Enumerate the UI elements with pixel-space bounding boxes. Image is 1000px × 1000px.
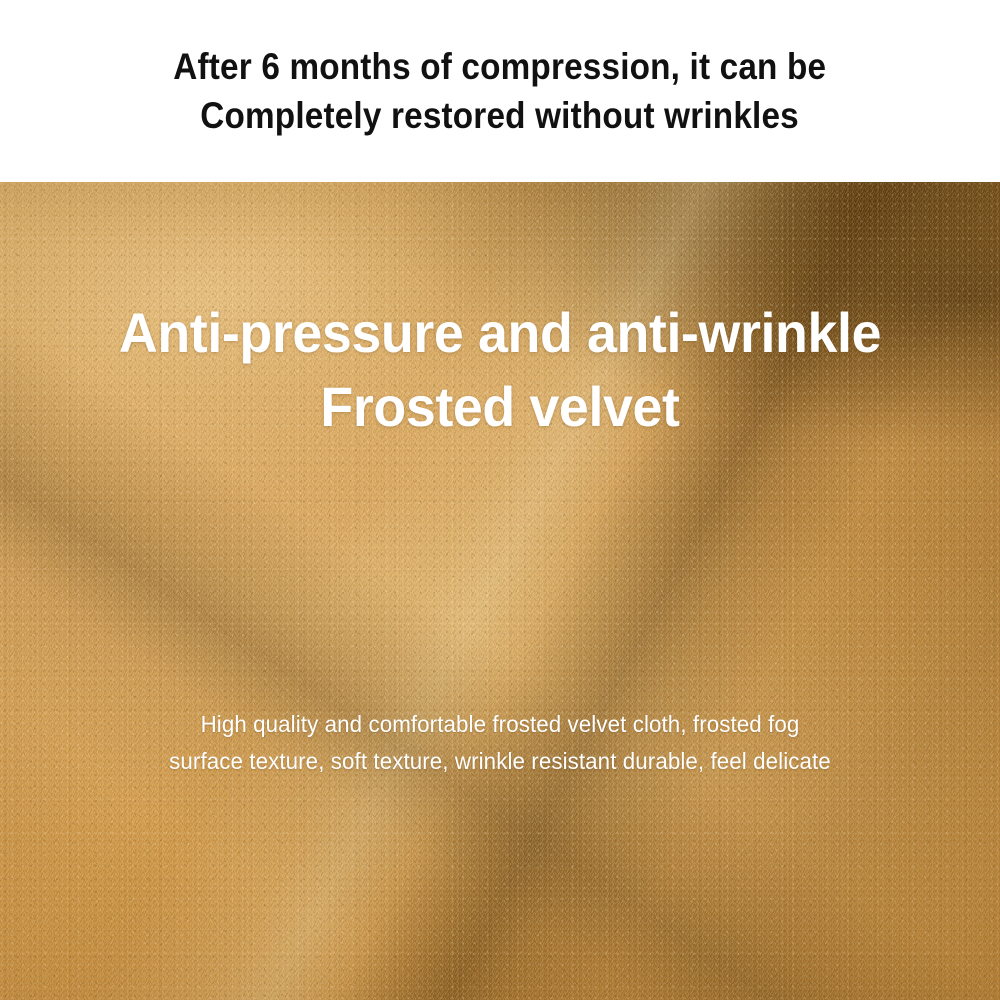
fabric-top-edge-shadow (0, 182, 1000, 1000)
product-feature-banner: After 6 months of compression, it can be… (0, 0, 1000, 1000)
fabric-vignette (0, 182, 1000, 1000)
fabric-lower-right-fold (0, 182, 1000, 1000)
fabric-top-right-shadow (0, 182, 1000, 1000)
fabric-nap-texture-b (0, 182, 1000, 1000)
fabric-top-right-shadow-2 (0, 182, 1000, 1000)
fabric-diagonal-fold-ridge (0, 182, 1000, 1000)
fabric-photo (0, 182, 1000, 1000)
fabric-base-tone (0, 182, 1000, 1000)
fabric-nap-texture-a (0, 182, 1000, 1000)
fabric-nap-speckle (0, 182, 1000, 1000)
fabric-diagonal-fold-crease (0, 182, 1000, 1000)
fabric-upper-sheen (0, 182, 1000, 1000)
header-line-1: After 6 months of compression, it can be (174, 42, 827, 91)
header-line-2: Completely restored without wrinkles (201, 91, 800, 140)
header-band: After 6 months of compression, it can be… (0, 0, 1000, 182)
fabric-lower-left-shadow-band (0, 182, 1000, 1000)
fabric-center-sheen (0, 182, 1000, 1000)
fabric-lower-right-sheen (0, 182, 1000, 1000)
